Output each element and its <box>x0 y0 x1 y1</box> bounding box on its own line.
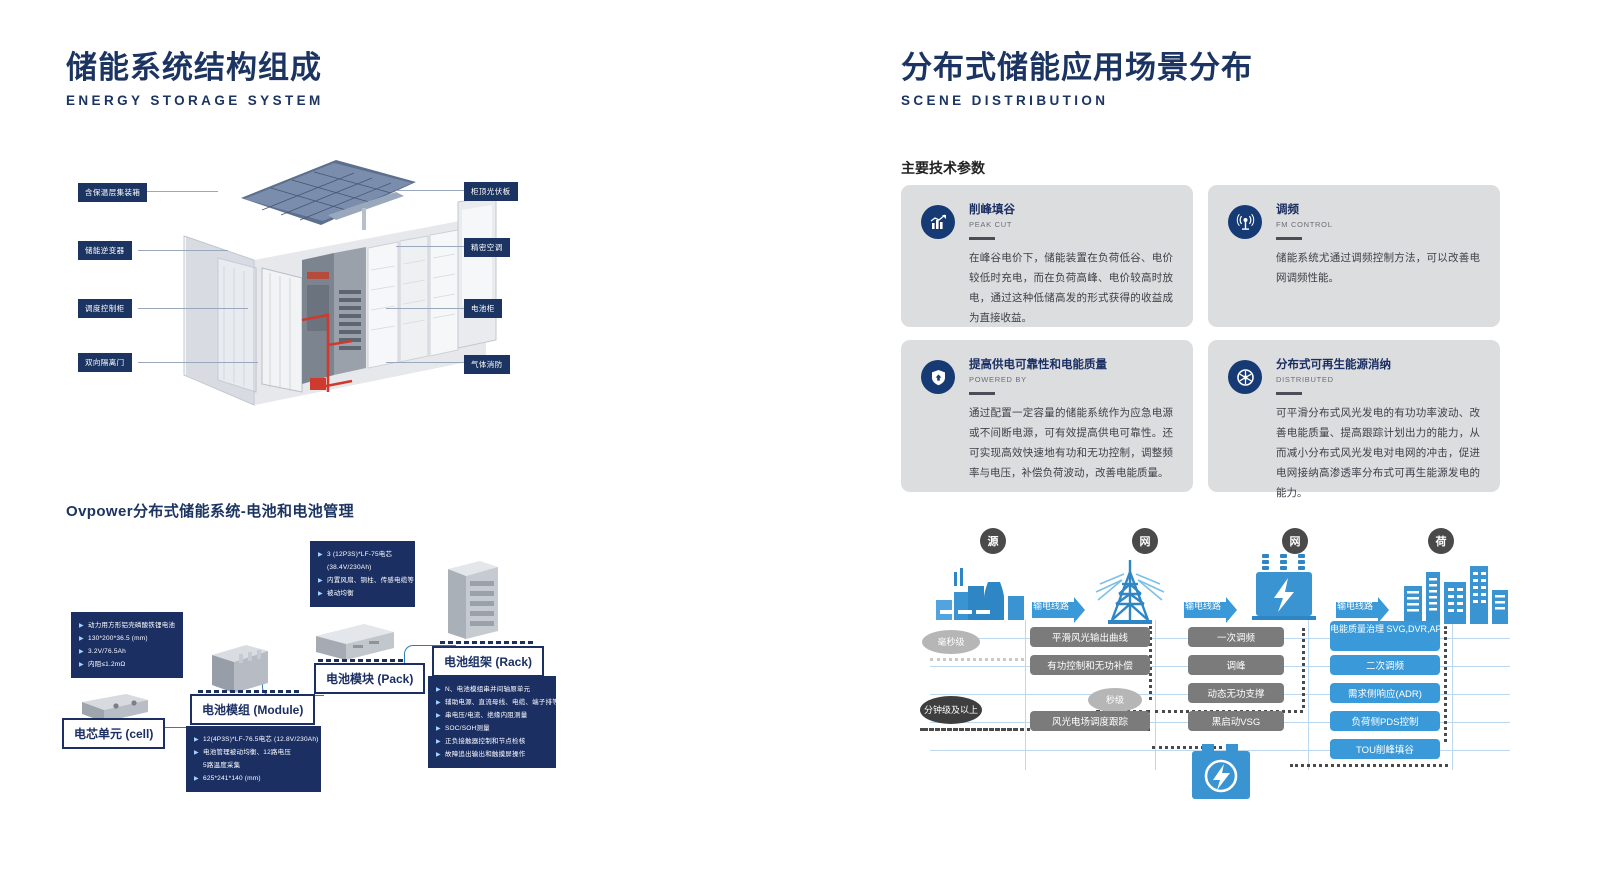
spec-item: ▶被动均衡 <box>318 587 407 600</box>
source-grid-load-flow-diagram: 源 网 网 荷 <box>900 520 1540 820</box>
flow-chip-col3-1[interactable]: 电能质量治理 SVG,DVR,APF <box>1330 621 1440 651</box>
node-badge-source: 源 <box>980 528 1006 554</box>
flow-chip-col2-2[interactable]: 调峰 <box>1188 655 1284 675</box>
dotted-connector-ms <box>930 658 1024 661</box>
param-card-fm-control[interactable]: 调频 FM CONTROL 储能系统尤通过调频控制方法，可以改善电网调频性能。 <box>1208 185 1500 327</box>
spec-item: (38.4V/230Ah) <box>318 561 407 574</box>
left-section-title: 储能系统结构组成 ENERGY STORAGE SYSTEM <box>66 50 324 108</box>
leader-line-6 <box>396 246 466 247</box>
container-label-right-4: 气体消防 <box>464 355 510 374</box>
flow-chip-col3-5[interactable]: TOU削峰填谷 <box>1330 739 1440 759</box>
leader-line-2 <box>138 250 228 251</box>
card-title: 削峰填谷 <box>969 203 1173 218</box>
spec-item: ▶625*241*140 (mm) <box>194 772 313 785</box>
spec-item: ▶电池管理被动均衡、12路电压 <box>194 746 313 759</box>
left-title-en: ENERGY STORAGE SYSTEM <box>66 93 324 108</box>
bar-chart-icon <box>921 205 955 239</box>
city-buildings-icon <box>1400 564 1510 626</box>
chip-line-1: 电能质量治理 SVG,DVR,APF <box>1330 623 1440 635</box>
card-subtitle: PEAK CUT <box>969 220 1173 229</box>
module-shadow-dots <box>198 690 299 693</box>
card-subtitle: POWERED BY <box>969 375 1173 384</box>
leader-line-1 <box>146 191 218 192</box>
spec-item: ▶N、电池模组串并间轴原单元 <box>436 683 548 696</box>
pack-shadow-dots <box>318 659 403 662</box>
leader-line-8 <box>386 362 466 363</box>
leader-line-7 <box>386 308 466 309</box>
card-body: 可平滑分布式风光发电的有功功率波动、改善电能质量、提高跟踪计划出力的能力，从而减… <box>1276 403 1480 503</box>
inverter-cabinet <box>302 247 366 384</box>
bullet-icon: ▶ <box>318 588 323 601</box>
card-rule <box>969 392 995 395</box>
battery-chain-subtitle: Ovpower分布式储能系统-电池和电池管理 <box>66 500 354 521</box>
timescale-label: 分钟级及以上 <box>924 705 978 716</box>
stage-label-module: 电池模组 (Module) <box>190 694 315 725</box>
card-title: 调频 <box>1276 203 1480 218</box>
flow-chip-col1-2[interactable]: 有功控制和无功补偿 <box>1030 655 1150 675</box>
bullet-icon: ▶ <box>194 773 199 786</box>
flow-chip-col2-3[interactable]: 动态无功支撑 <box>1188 683 1284 703</box>
transmission-tower-icon <box>1082 558 1178 626</box>
container-label-right-3: 电池柜 <box>464 299 502 318</box>
rack-shadow-dots <box>440 641 533 644</box>
spec-item: ▶正负接触器控制和节点检核 <box>436 735 548 748</box>
right-section-title: 分布式储能应用场景分布 SCENE DISTRIBUTION <box>901 50 1253 108</box>
container-label-right-2: 精密空调 <box>464 238 510 257</box>
snowflake-icon <box>1228 360 1262 394</box>
flow-chip-col3-3[interactable]: 需求侧响应(ADR) <box>1330 683 1440 703</box>
rack-product-image <box>440 555 502 646</box>
stage-label-cell: 电芯单元 (cell) <box>62 718 165 749</box>
right-title-en: SCENE DISTRIBUTION <box>901 93 1253 108</box>
param-card-power-reliability[interactable]: 提高供电可靠性和电能质量 POWERED BY 通过配置一定容量的储能系统作为应… <box>901 340 1193 492</box>
timescale-pill-ms: 毫秒级 <box>922 630 980 654</box>
container-label-left-4: 双向隔离门 <box>78 353 132 372</box>
poster-page: 储能系统结构组成 ENERGY STORAGE SYSTEM <box>0 0 1600 886</box>
bullet-icon: ▶ <box>79 659 84 672</box>
card-title: 分布式可再生能源消纳 <box>1276 358 1480 373</box>
spec-item: ▶内置风扇、铜柱、传感电缆等 <box>318 574 407 587</box>
spec-box-rack: ▶N、电池模组串并间轴原单元 ▶辅助电源、直流母线、电缆、端子排等 ▶串电压/电… <box>428 676 556 768</box>
flow-arrow-label-3: 输电线路 <box>1337 599 1373 612</box>
right-title-cn: 分布式储能应用场景分布 <box>901 50 1253 86</box>
flow-chip-col1-1[interactable]: 平滑风光输出曲线 <box>1030 627 1150 647</box>
card-body: 储能系统尤通过调频控制方法，可以改善电网调频性能。 <box>1276 248 1480 288</box>
flow-arrow-label-2: 输电线路 <box>1185 599 1221 612</box>
param-card-distributed-renewable[interactable]: 分布式可再生能源消纳 DISTRIBUTED 可平滑分布式风光发电的有功功率波动… <box>1208 340 1500 492</box>
param-card-peak-cut[interactable]: 削峰填谷 PEAK CUT 在峰谷电价下，储能装置在负荷低谷、电价较低时充电，而… <box>901 185 1193 327</box>
flow-chip-col2-4[interactable]: 黑启动VSG <box>1188 711 1284 731</box>
card-body: 通过配置一定容量的储能系统作为应急电源或不间断电源，可有效提高供电可靠性。还可实… <box>969 403 1173 483</box>
timescale-pill-min: 分钟级及以上 <box>920 696 982 724</box>
flow-chip-col3-2[interactable]: 二次调频 <box>1330 655 1440 675</box>
left-title-cn: 储能系统结构组成 <box>66 50 324 86</box>
card-rule <box>1276 392 1302 395</box>
bullet-icon: ▶ <box>436 749 441 762</box>
guide-line <box>1308 620 1309 770</box>
dotted-connector-battery-right <box>1290 764 1448 767</box>
node-badge-grid-1: 网 <box>1132 528 1158 554</box>
spec-item: ▶动力用方形铝壳磷酸铁锂电池 <box>79 619 175 632</box>
spec-item: 5路温度采集 <box>194 759 313 772</box>
container-label-right-1: 柜顶光伏板 <box>464 182 518 201</box>
spec-box-pack: ▶3 (12P3S)*LF-75电芯 (38.4V/230Ah) ▶内置风扇、铜… <box>310 541 415 607</box>
solar-panel-group <box>241 160 416 230</box>
spec-item: ▶串电压/电流、绝缘内阻测量 <box>436 709 548 722</box>
container-label-left-1: 含保温层集装箱 <box>78 183 147 202</box>
flow-chip-col2-1[interactable]: 一次调频 <box>1188 627 1284 647</box>
spec-item: ▶12(4P3S)*LF-76.5电芯 (12.8V/230Ah) <box>194 733 313 746</box>
spec-item: ▶130*200*36.5 (mm) <box>79 632 175 645</box>
spec-item: ▶3 (12P3S)*LF-75电芯 <box>318 548 407 561</box>
power-plant-icon <box>930 566 1030 624</box>
broadcast-icon <box>1228 205 1262 239</box>
stage-label-pack: 电池模块 (Pack) <box>314 663 425 694</box>
spec-item: ▶辅助电源、直流母线、电缆、端子排等 <box>436 696 548 709</box>
shield-icon <box>921 360 955 394</box>
spec-item: ▶内阻≤1.2mΩ <box>79 658 175 671</box>
node-badge-load: 荷 <box>1428 528 1454 554</box>
timescale-pill-s: 秒级 <box>1088 688 1142 712</box>
node-badge-grid-2: 网 <box>1282 528 1308 554</box>
card-title: 提高供电可靠性和电能质量 <box>969 358 1173 373</box>
battery-storage-icon <box>1188 742 1254 802</box>
guide-line <box>1025 620 1026 770</box>
spec-item: ▶SOC/SOH测量 <box>436 722 548 735</box>
leader-line-3 <box>138 308 248 309</box>
spec-item: ▶3.2V/76.5Ah <box>79 645 175 658</box>
door-panel <box>458 196 496 348</box>
dotted-connector-col3 <box>1444 626 1447 742</box>
spec-box-module: ▶12(4P3S)*LF-76.5电芯 (12.8V/230Ah) ▶电池管理被… <box>186 726 321 792</box>
flow-chip-col1-3[interactable]: 风光电场调度跟踪 <box>1030 711 1150 731</box>
card-rule <box>1276 237 1302 240</box>
spec-item: ▶故障追出输出和触摸屏操作 <box>436 748 548 761</box>
flow-arrow-label-1: 输电线路 <box>1033 599 1069 612</box>
card-subtitle: DISTRIBUTED <box>1276 375 1480 384</box>
card-subtitle: FM CONTROL <box>1276 220 1480 229</box>
transformer-icon <box>1240 552 1330 624</box>
card-body: 在峰谷电价下，储能装置在负荷低谷、电价较低时充电，而在负荷高峰、电价较高时放电，… <box>969 248 1173 328</box>
card-rule <box>969 237 995 240</box>
dotted-connector-col2 <box>1302 628 1305 708</box>
container-label-left-3: 调度控制柜 <box>78 299 132 318</box>
stage-label-rack: 电池组架 (Rack) <box>432 646 544 677</box>
flow-chip-col3-4[interactable]: 负荷侧PDS控制 <box>1330 711 1440 731</box>
container-label-left-2: 储能逆变器 <box>78 241 132 260</box>
leader-line-4 <box>138 362 258 363</box>
spec-box-cell: ▶动力用方形铝壳磷酸铁锂电池 ▶130*200*36.5 (mm) ▶3.2V/… <box>71 612 183 678</box>
params-heading: 主要技术参数 <box>901 158 985 178</box>
guide-line <box>1452 620 1453 770</box>
leader-line-5 <box>396 190 466 191</box>
battery-cabinets <box>368 230 458 368</box>
